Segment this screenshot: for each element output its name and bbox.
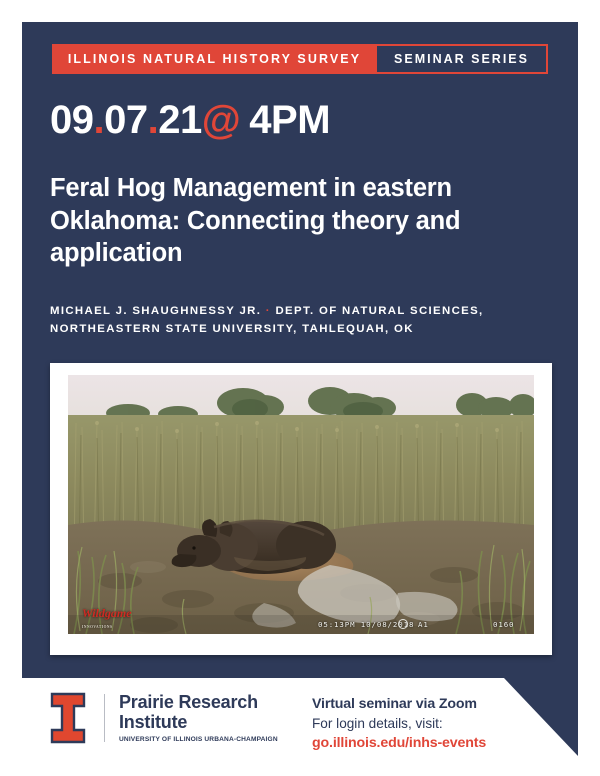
camera-trap-photo-graphic bbox=[68, 375, 534, 634]
zoom-url-link[interactable]: go.illinois.edu/inhs-events bbox=[312, 733, 486, 753]
banner-organization: ILLINOIS NATURAL HISTORY SURVEY bbox=[54, 46, 375, 72]
institute-logo-lockup: Prairie Research Institute UNIVERSITY OF… bbox=[48, 692, 278, 744]
date-dot-1: . bbox=[94, 98, 105, 142]
date-day: 07 bbox=[104, 98, 148, 142]
institute-name-line-2: Institute bbox=[119, 712, 278, 732]
banner-organization-label: ILLINOIS NATURAL HISTORY SURVEY bbox=[68, 52, 361, 66]
institute-name-line-1: Prairie Research bbox=[119, 692, 278, 712]
photo-frame: Wildgame INNOVATIONS 05:13PM 10/08/2018 … bbox=[50, 363, 552, 655]
event-time: 4PM bbox=[249, 98, 330, 142]
camera-trap-photo: Wildgame INNOVATIONS 05:13PM 10/08/2018 … bbox=[68, 375, 534, 634]
logo-divider bbox=[104, 694, 105, 742]
zoom-info-block: Virtual seminar via Zoom For login detai… bbox=[312, 694, 486, 754]
at-symbol: @ bbox=[202, 98, 241, 142]
speaker-institution: NORTHEASTERN STATE UNIVERSITY, TAHLEQUAH… bbox=[50, 323, 414, 335]
speaker-department: DEPT. OF NATURAL SCIENCES, bbox=[275, 305, 483, 317]
speaker-name: MICHAEL J. SHAUGHNESSY JR. bbox=[50, 305, 261, 317]
speaker-block: MICHAEL J. SHAUGHNESSY JR. · DEPT. OF NA… bbox=[50, 303, 560, 338]
date-month: 09 bbox=[50, 98, 94, 142]
banner-series: SEMINAR SERIES bbox=[375, 46, 546, 72]
banner-series-label: SEMINAR SERIES bbox=[394, 52, 529, 66]
institute-subtitle: UNIVERSITY OF ILLINOIS URBANA-CHAMPAIGN bbox=[119, 736, 278, 743]
zoom-detail-text: For login details, visit: bbox=[312, 714, 486, 733]
corner-triangle-shape bbox=[504, 678, 578, 756]
illinois-block-i-icon bbox=[48, 692, 88, 744]
corner-triangle-decoration bbox=[504, 678, 578, 756]
zoom-heading: Virtual seminar via Zoom bbox=[312, 694, 486, 714]
event-datetime: 09.07.21@4PM bbox=[50, 100, 330, 140]
seminar-poster: ILLINOIS NATURAL HISTORY SURVEY SEMINAR … bbox=[0, 0, 600, 776]
speaker-separator: · bbox=[266, 305, 271, 317]
poster-footer: Prairie Research Institute UNIVERSITY OF… bbox=[0, 678, 600, 776]
date-year: 21 bbox=[158, 98, 202, 142]
institute-name-block: Prairie Research Institute UNIVERSITY OF… bbox=[119, 692, 278, 744]
series-banner: ILLINOIS NATURAL HISTORY SURVEY SEMINAR … bbox=[52, 44, 548, 74]
talk-title: Feral Hog Management in eastern Oklahoma… bbox=[50, 172, 560, 270]
date-dot-2: . bbox=[148, 98, 159, 142]
